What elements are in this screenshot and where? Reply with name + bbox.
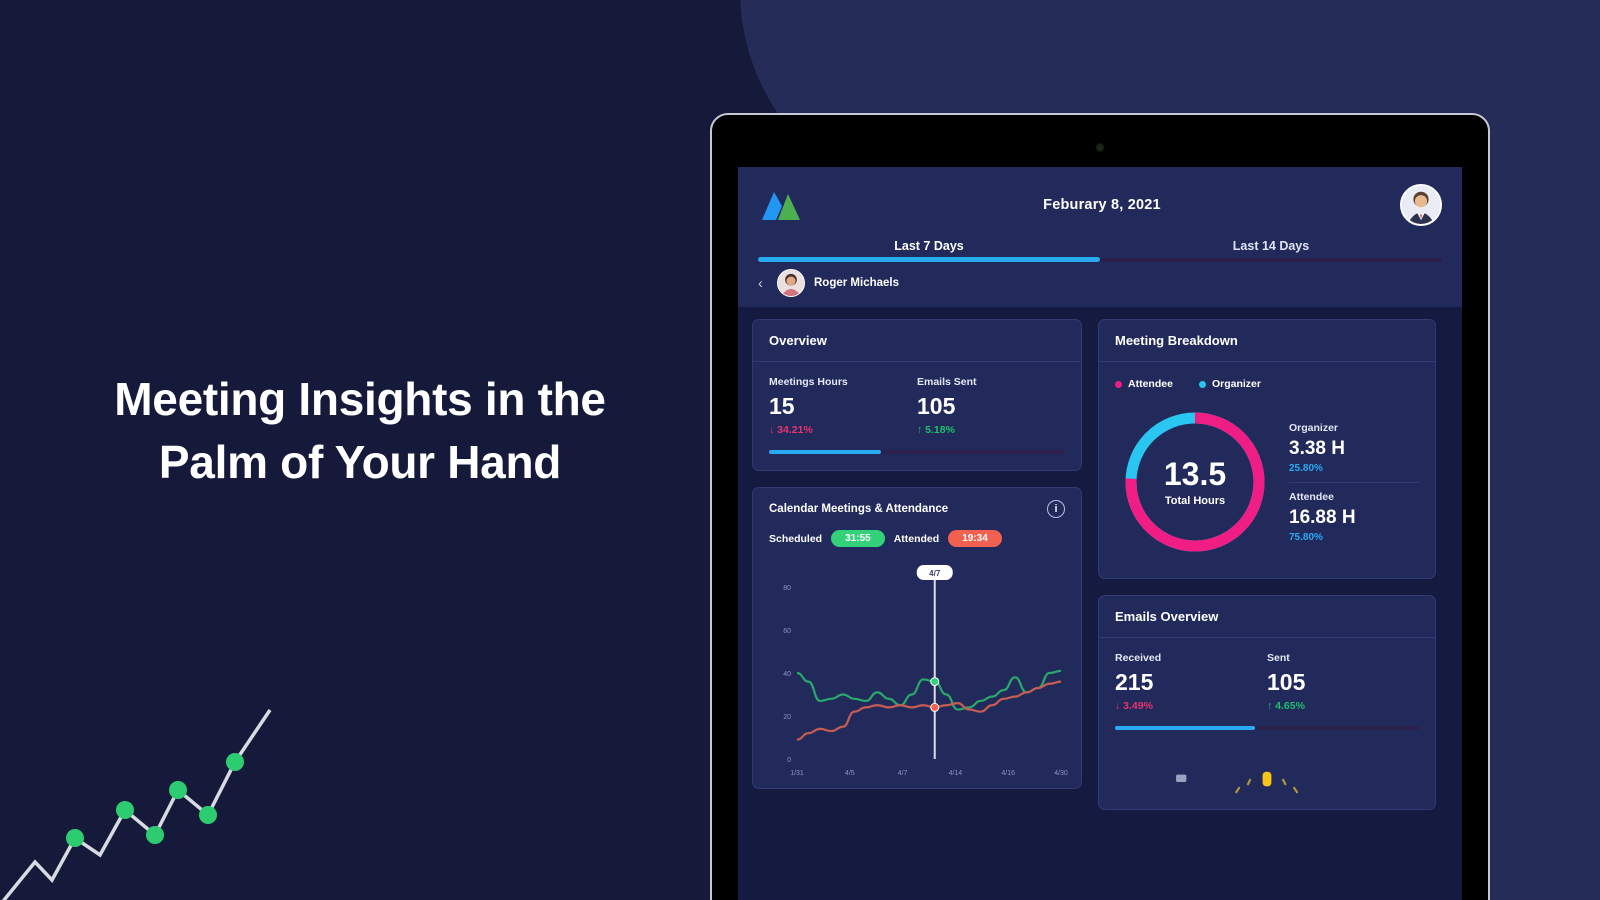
gauge-icon: [1115, 760, 1419, 804]
overview-stats: Meetings Hours 15 ↓ 34.21% Emails Sent 1…: [769, 376, 1065, 436]
user-row-avatar: [777, 269, 805, 297]
badge-scheduled: 31:55: [831, 530, 885, 547]
svg-text:80: 80: [783, 585, 791, 592]
legend-label-attended: Attended: [894, 533, 940, 545]
gauge-area: [1099, 746, 1435, 809]
side-label: Attendee: [1289, 491, 1419, 503]
side-stat-attendee: Attendee 16.88 H 75.80%: [1289, 482, 1419, 551]
arrow-up-icon: ↑: [917, 424, 922, 436]
side-percent: 25.80%: [1289, 463, 1419, 474]
overview-progress-bar: [769, 450, 1065, 454]
donut-center-label: 13.5 Total Hours: [1115, 402, 1275, 562]
svg-text:0: 0: [787, 757, 791, 764]
stat-received: Received 215 ↓ 3.49%: [1115, 652, 1267, 712]
stat-label: Emails Sent: [917, 376, 1065, 388]
stat-value: 15: [769, 394, 917, 419]
legend-label-scheduled: Scheduled: [769, 533, 822, 545]
svg-text:60: 60: [783, 628, 791, 635]
stat-meetings-hours: Meetings Hours 15 ↓ 34.21%: [769, 376, 917, 436]
svg-text:4/7: 4/7: [929, 569, 941, 578]
svg-text:4/16: 4/16: [1001, 770, 1015, 777]
selected-user-row[interactable]: ‹ Roger Michaels: [758, 262, 1442, 307]
stat-delta: ↓ 3.49%: [1115, 700, 1267, 712]
stat-sent: Sent 105 ↑ 4.65%: [1267, 652, 1419, 712]
donut-side-stats: Organizer 3.38 H 25.80% Attendee 16.88 H…: [1283, 414, 1419, 551]
emails-overview-title: Emails Overview: [1099, 596, 1435, 638]
user-row-name: Roger Michaels: [814, 277, 899, 289]
calendar-chart-head: Calendar Meetings & Attendance i: [753, 488, 1081, 518]
calendar-chart-legend: Scheduled 31:55 Attended 19:34: [753, 518, 1081, 547]
stat-label: Meetings Hours: [769, 376, 917, 388]
side-percent: 75.80%: [1289, 532, 1419, 543]
stat-value: 105: [1267, 670, 1419, 695]
stat-delta-value: 5.18%: [925, 424, 955, 436]
chevron-left-icon[interactable]: ‹: [758, 276, 768, 291]
svg-text:1/31: 1/31: [790, 770, 804, 777]
emails-overview-card: Emails Overview Received 215 ↓ 3.49%: [1098, 595, 1436, 810]
stat-delta: ↑ 4.65%: [1267, 700, 1419, 712]
line-chart[interactable]: 0204060804/71/314/54/74/144/164/30: [753, 547, 1081, 788]
meeting-breakdown-body: Attendee Organizer: [1099, 362, 1435, 578]
tablet-device: Feburary 8, 2021 Last 7 Days Last 14 Day…: [710, 113, 1490, 900]
avatar-image-small: [778, 270, 804, 296]
emails-overview-body: Received 215 ↓ 3.49% Sent 105: [1099, 638, 1435, 746]
side-stat-organizer: Organizer 3.38 H 25.80%: [1289, 414, 1419, 482]
right-column: Meeting Breakdown Attendee Organizer: [1098, 319, 1436, 900]
svg-text:20: 20: [783, 714, 791, 721]
badge-attended: 19:34: [948, 530, 1002, 547]
date-range-tabs: Last 7 Days Last 14 Days: [758, 239, 1442, 262]
dashboard-body: Overview Meetings Hours 15 ↓ 34.21%: [738, 307, 1462, 900]
svg-text:4/5: 4/5: [845, 770, 855, 777]
line-chart-svg: 0204060804/71/314/54/74/144/164/30: [759, 553, 1075, 783]
emails-progress-fill: [1115, 726, 1255, 730]
overview-card: Overview Meetings Hours 15 ↓ 34.21%: [752, 319, 1082, 471]
meeting-breakdown-title: Meeting Breakdown: [1099, 320, 1435, 362]
donut-total-value: 13.5: [1164, 458, 1226, 490]
emails-stats: Received 215 ↓ 3.49% Sent 105: [1115, 652, 1419, 712]
donut-wrap: 13.5 Total Hours Organizer 3.38 H 25.80%: [1115, 402, 1419, 562]
legend-organizer: Organizer: [1199, 378, 1261, 390]
donut-legend: Attendee Organizer: [1115, 376, 1419, 402]
arrow-down-icon: ↓: [1115, 700, 1120, 712]
stat-delta-value: 34.21%: [777, 424, 813, 436]
overview-body: Meetings Hours 15 ↓ 34.21% Emails Sent 1…: [753, 362, 1081, 470]
legend-dot-organizer: [1199, 381, 1206, 388]
side-value: 16.88 H: [1289, 507, 1419, 529]
svg-text:4/7: 4/7: [898, 770, 908, 777]
legend-text-organizer: Organizer: [1212, 378, 1261, 390]
donut-chart: 13.5 Total Hours: [1115, 402, 1275, 562]
active-tab-indicator: [758, 257, 1100, 262]
app-header: Feburary 8, 2021 Last 7 Days Last 14 Day…: [738, 167, 1462, 307]
emails-progress-bar: [1115, 726, 1419, 730]
donut-total-caption: Total Hours: [1165, 495, 1225, 507]
legend-dot-attendee: [1115, 381, 1122, 388]
calendar-chart-card: Calendar Meetings & Attendance i Schedul…: [752, 487, 1082, 789]
svg-text:4/30: 4/30: [1054, 770, 1068, 777]
growth-line-graphic: [0, 690, 310, 900]
avatar-image: [1402, 186, 1440, 224]
stat-delta-value: 3.49%: [1123, 700, 1153, 712]
legend-text-attendee: Attendee: [1128, 378, 1173, 390]
overview-title: Overview: [753, 320, 1081, 362]
mountain-logo: [758, 188, 804, 222]
app-topbar: Feburary 8, 2021: [758, 181, 1442, 229]
page-title: Feburary 8, 2021: [1043, 197, 1161, 213]
stat-delta-value: 4.65%: [1275, 700, 1305, 712]
stat-emails-sent: Emails Sent 105 ↑ 5.18%: [917, 376, 1065, 436]
app-screen: Feburary 8, 2021 Last 7 Days Last 14 Day…: [738, 167, 1462, 900]
camera-icon: [1096, 143, 1105, 152]
svg-text:40: 40: [783, 671, 791, 678]
stat-value: 105: [917, 394, 1065, 419]
legend-attendee: Attendee: [1115, 378, 1173, 390]
overview-progress-fill: [769, 450, 881, 454]
left-column: Overview Meetings Hours 15 ↓ 34.21%: [752, 319, 1082, 900]
arrow-up-icon: ↑: [1267, 700, 1272, 712]
page-headline: Meeting Insights in the Palm of Your Han…: [60, 368, 660, 495]
side-value: 3.38 H: [1289, 438, 1419, 460]
svg-text:4/14: 4/14: [949, 770, 963, 777]
stat-delta: ↓ 34.21%: [769, 424, 917, 436]
stat-label: Received: [1115, 652, 1267, 664]
stat-delta: ↑ 5.18%: [917, 424, 1065, 436]
info-icon[interactable]: i: [1047, 500, 1065, 518]
user-avatar[interactable]: [1400, 184, 1442, 226]
stat-value: 215: [1115, 670, 1267, 695]
side-label: Organizer: [1289, 422, 1419, 434]
arrow-down-icon: ↓: [769, 424, 774, 436]
meeting-breakdown-card: Meeting Breakdown Attendee Organizer: [1098, 319, 1436, 579]
calendar-chart-title: Calendar Meetings & Attendance: [769, 503, 948, 515]
stat-label: Sent: [1267, 652, 1419, 664]
